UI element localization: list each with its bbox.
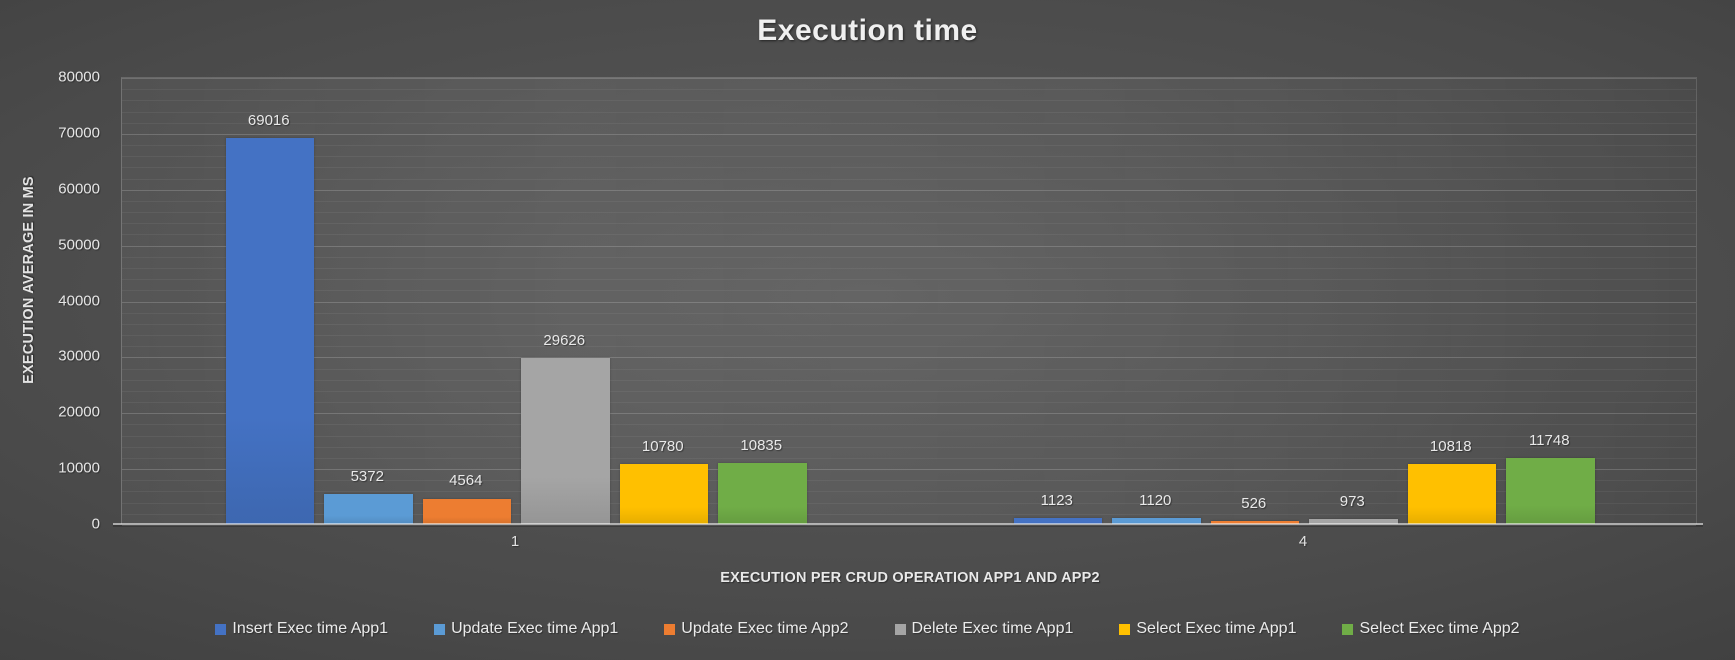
bar-value-label: 69016 [248,112,290,129]
minor-gridline [122,458,1696,459]
minor-gridline [122,212,1696,213]
major-gridline [122,134,1696,135]
bar-value-label: 1120 [1139,492,1171,509]
minor-gridline [122,391,1696,392]
minor-gridline [122,123,1696,124]
legend-item[interactable]: Update Exec time App2 [664,620,848,638]
x-axis-line-shadow [113,525,1703,527]
y-axis-tick-label: 20000 [0,404,110,421]
minor-gridline [122,89,1696,90]
y-axis-tick-label: 10000 [0,460,110,477]
y-axis-tick-label: 70000 [0,124,110,141]
legend-label: Delete Exec time App1 [912,620,1074,638]
x-axis-line [113,523,1703,525]
minor-gridline [122,179,1696,180]
minor-gridline [122,279,1696,280]
minor-gridline [122,380,1696,381]
legend-item[interactable]: Select Exec time App1 [1119,620,1296,638]
minor-gridline [122,145,1696,146]
y-axis-tick-label: 40000 [0,292,110,309]
minor-gridline [122,335,1696,336]
bar[interactable] [324,494,413,524]
x-axis-category-label: 4 [1299,533,1307,550]
legend-item[interactable]: Update Exec time App1 [434,620,618,638]
x-axis-title: EXECUTION PER CRUD OPERATION APP1 AND AP… [110,570,1710,586]
bar-value-label: 10780 [642,438,684,455]
legend-swatch-icon [895,624,906,635]
major-gridline [122,78,1696,79]
legend-swatch-icon [1119,624,1130,635]
bar-value-label: 1123 [1041,492,1073,509]
minor-gridline [122,234,1696,235]
bar[interactable] [1506,458,1595,524]
legend-swatch-icon [215,624,226,635]
bar-value-label: 5372 [351,468,384,485]
y-axis-tick-label: 0 [0,516,110,533]
bar[interactable] [620,464,709,524]
bar[interactable] [521,358,610,524]
legend-label: Update Exec time App1 [451,620,618,638]
major-gridline [122,413,1696,414]
minor-gridline [122,167,1696,168]
legend-label: Select Exec time App2 [1359,620,1519,638]
legend-item[interactable]: Delete Exec time App1 [895,620,1074,638]
bar-value-label: 10818 [1430,438,1472,455]
minor-gridline [122,346,1696,347]
minor-gridline [122,424,1696,425]
bar-value-label: 11748 [1529,432,1570,449]
major-gridline [122,302,1696,303]
minor-gridline [122,290,1696,291]
minor-gridline [122,268,1696,269]
legend-label: Select Exec time App1 [1136,620,1296,638]
major-gridline [122,190,1696,191]
minor-gridline [122,112,1696,113]
bar-value-label: 526 [1241,495,1266,512]
y-axis-tick-label: 60000 [0,180,110,197]
y-axis-tick-label: 80000 [0,69,110,86]
legend-swatch-icon [434,624,445,635]
legend-swatch-icon [664,624,675,635]
bar-value-label: 10835 [740,437,782,454]
y-axis-tick-label: 50000 [0,236,110,253]
x-axis-category-label: 1 [511,533,519,550]
plot-area [121,77,1697,524]
major-gridline [122,357,1696,358]
bar[interactable] [226,138,315,524]
chart-title: Execution time [0,14,1735,48]
bar[interactable] [1408,464,1497,524]
major-gridline [122,246,1696,247]
minor-gridline [122,324,1696,325]
minor-gridline [122,257,1696,258]
minor-gridline [122,201,1696,202]
legend-item[interactable]: Insert Exec time App1 [215,620,388,638]
minor-gridline [122,402,1696,403]
bar[interactable] [718,463,807,524]
legend-label: Insert Exec time App1 [232,620,388,638]
chart-legend: Insert Exec time App1Update Exec time Ap… [0,620,1735,638]
y-axis-tick-label: 30000 [0,348,110,365]
bar[interactable] [423,499,512,525]
legend-swatch-icon [1342,624,1353,635]
legend-label: Update Exec time App2 [681,620,848,638]
legend-item[interactable]: Select Exec time App2 [1342,620,1519,638]
bar-value-label: 4564 [449,472,482,489]
minor-gridline [122,156,1696,157]
minor-gridline [122,223,1696,224]
minor-gridline [122,100,1696,101]
minor-gridline [122,369,1696,370]
minor-gridline [122,313,1696,314]
chart-container: Execution time EXECUTION AVERAGE IN MS 0… [0,0,1735,660]
bar-value-label: 973 [1340,493,1365,510]
minor-gridline [122,436,1696,437]
bar-value-label: 29626 [543,332,585,349]
